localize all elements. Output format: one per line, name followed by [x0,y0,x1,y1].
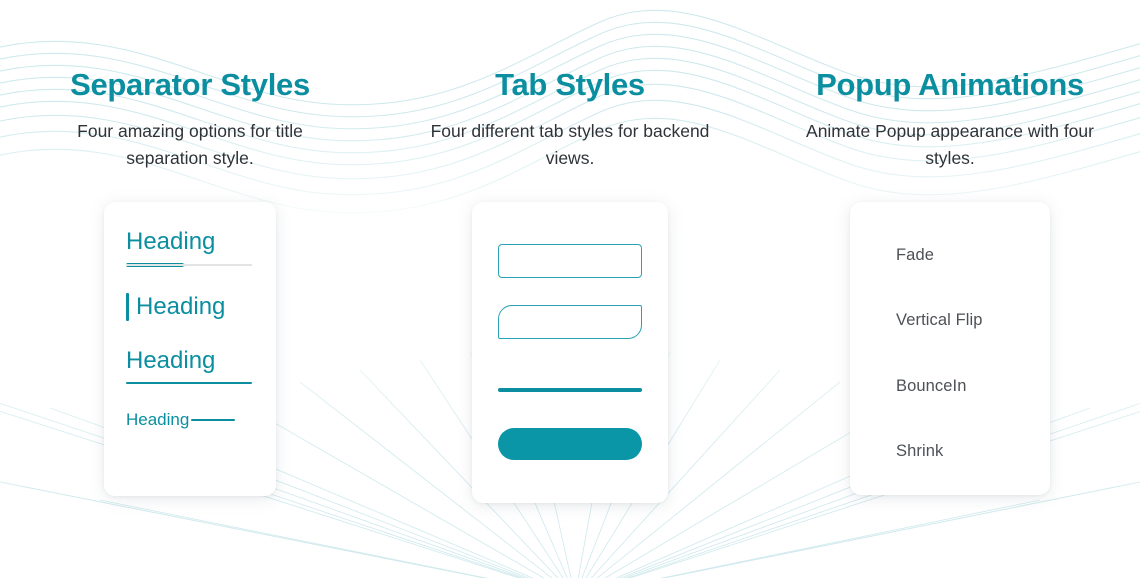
separator-option-inline-line[interactable]: Heading [126,410,254,430]
separator-heading-label: Heading [126,410,189,430]
separator-heading-label: Heading [126,228,254,256]
animation-option-bouncein[interactable]: BounceIn [896,377,1050,395]
column-title: Separator Styles [70,68,310,102]
column-tab-styles: Tab Styles Four different tab styles for… [380,0,760,578]
separator-preview-card: Heading Heading Heading Heading [104,202,276,496]
separator-bar-row: Heading [126,293,254,321]
column-description: Four amazing options for title separatio… [40,118,340,172]
tab-style-diagonal-rounded[interactable] [498,305,642,339]
separator-rule-full [126,382,252,384]
animation-option-fade[interactable]: Fade [896,246,1050,264]
separator-heading-label: Heading [126,347,254,375]
separator-vertical-bar [126,293,129,321]
separator-option-left-bar[interactable]: Heading [126,293,254,321]
separator-option-underline-full[interactable]: Heading [126,347,254,385]
column-title: Popup Animations [816,68,1084,102]
separator-inline-row: Heading [126,410,254,430]
tab-style-filled-pill[interactable] [498,428,642,460]
animation-option-shrink[interactable]: Shrink [896,442,1050,460]
separator-option-underline-dual[interactable]: Heading [126,228,254,267]
tab-style-outlined-rect[interactable] [498,244,642,278]
column-title: Tab Styles [495,68,645,102]
column-separator-styles: Separator Styles Four amazing options fo… [0,0,380,578]
tab-style-underline-bar[interactable] [498,388,642,392]
column-popup-animations: Popup Animations Animate Popup appearanc… [760,0,1140,578]
column-description: Four different tab styles for backend vi… [420,118,720,172]
separator-inline-line [191,419,235,421]
animation-option-vertical-flip[interactable]: Vertical Flip [896,311,1050,329]
animation-list-card: Fade Vertical Flip BounceIn Shrink [850,202,1050,495]
separator-rule-dual [126,263,252,267]
feature-columns: Separator Styles Four amazing options fo… [0,0,1140,578]
separator-heading-label: Heading [136,293,225,321]
tab-preview-card [472,202,668,503]
column-description: Animate Popup appearance with four style… [800,118,1100,172]
